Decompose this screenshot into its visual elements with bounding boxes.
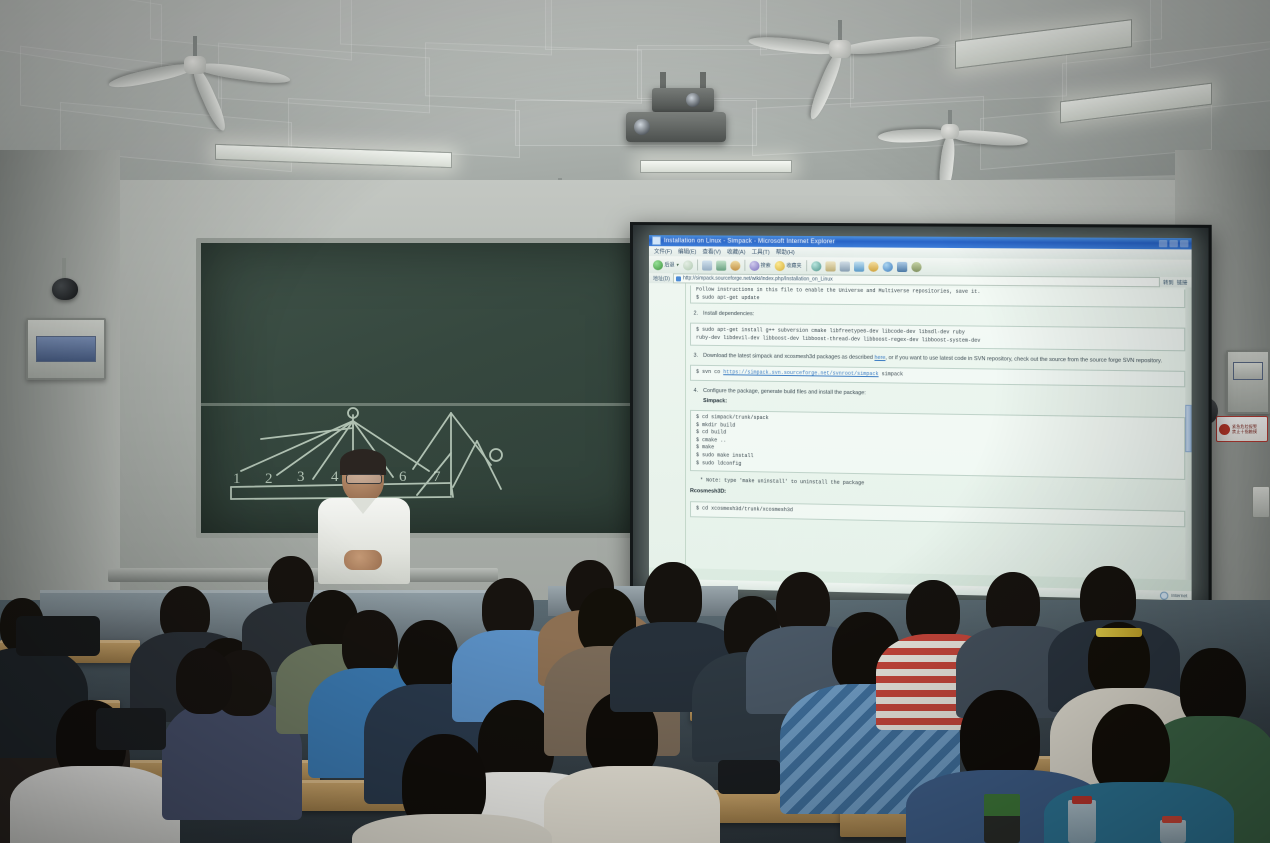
chalkboard-tree-drawing [201,243,651,533]
menu-edit[interactable]: 编辑(E) [678,247,696,255]
step-item: 4. Configure the package, generate build… [690,387,1185,413]
globe-icon [882,261,892,271]
svn-suffix: simpack [879,371,904,377]
chalk-number: 1 [233,471,241,488]
history-button[interactable] [811,261,821,271]
history-icon [811,261,821,271]
printer-icon [839,261,849,271]
toolbar-separator [697,259,698,270]
student-body [352,814,552,843]
wiki-article-content: Follow instructions in this file to enab… [686,283,1192,579]
stop-button[interactable] [702,260,712,270]
toolbar-separator [744,260,745,271]
tools-icon [911,261,921,271]
here-link[interactable]: here [874,355,885,361]
code-line: $ svn co https://simpack.svn.sourceforge… [696,369,1179,383]
back-button[interactable]: 后退 ▾ [653,260,679,270]
chalk-number: 3 [297,469,305,486]
menu-help[interactable]: 帮助(H) [776,248,795,256]
search-button[interactable]: 搜索 [749,260,771,270]
back-label: 后退 [664,261,674,268]
stop-icon [702,260,712,270]
refresh-icon [716,260,726,270]
code-block-trailing: $ cd xcosmesh3d/trunk/xcosmesh3d [690,501,1185,527]
folder-icon [868,261,878,271]
projector-lens [686,93,700,107]
home-icon [730,260,740,270]
chevron-down-icon[interactable]: ▾ [676,262,679,268]
go-button[interactable]: 转到 [1163,279,1174,286]
projector-main [626,112,726,142]
discuss-button[interactable] [882,261,892,271]
warning-dot-icon [1219,424,1230,435]
svn-url-link[interactable]: https://simpack.svn.sourceforge.net/svnr… [723,369,878,377]
ceiling-fan [740,20,940,80]
mail-icon [825,261,835,271]
search-icon [749,260,759,270]
wall-control-panel[interactable] [26,318,106,380]
wiki-sidebar [649,283,686,568]
bag [718,760,780,794]
vertical-scrollbar[interactable] [1185,287,1191,579]
back-arrow-icon [653,260,663,270]
messenger-button[interactable] [868,261,878,271]
projected-image: Installation on Linux - Simpack - Micros… [649,235,1192,600]
security-camera [52,278,78,300]
lecturer [316,452,412,582]
menu-tools[interactable]: 工具(T) [752,248,770,256]
code-block-svn: $ svn co https://simpack.svn.sourceforge… [690,365,1185,387]
address-label: 地址(D) [653,275,670,282]
extra-button[interactable] [911,261,921,271]
url-text: http://simpack.sourceforge.net/wiki/inde… [683,275,833,282]
ceiling-fan [870,110,1030,162]
bottle-cap [1072,796,1092,804]
forward-button[interactable] [683,260,693,270]
ceiling-light [640,160,792,173]
window-controls[interactable] [1159,240,1189,247]
translate-button[interactable] [897,261,907,271]
translate-icon [897,261,907,271]
internet-explorer-window[interactable]: Installation on Linux - Simpack - Micros… [649,235,1192,600]
equipment-display [1233,362,1263,380]
step-item: 3. Download the latest simpack and xcosm… [690,353,1185,367]
ie-app-icon [652,236,661,245]
lecturer-hands [344,550,382,570]
chalk-number: 2 [265,471,273,488]
projector-body [652,88,714,112]
step-number: 4. [690,387,698,406]
favorites-button[interactable]: 收藏夹 [775,260,802,270]
code-line: $ cd xcosmesh3d/trunk/xcosmesh3d [696,506,1179,523]
star-icon [775,260,785,270]
menu-view[interactable]: 查看(V) [702,247,720,255]
minimize-button[interactable] [1159,240,1167,247]
student-body [544,766,720,843]
step-item: 2. Install dependencies: [690,311,1185,324]
forward-arrow-icon [683,260,693,270]
menu-favorites[interactable]: 收藏(A) [727,248,745,256]
refresh-button[interactable] [716,260,726,270]
links-label[interactable]: 链接 [1177,279,1188,286]
close-button[interactable] [1180,240,1188,247]
sunglasses-icon [1096,628,1142,637]
code-block-dependencies: $ sudo apt-get install g++ subversion cm… [690,323,1185,352]
step-text-after: , or if you want to use latest code in S… [885,355,1162,364]
step-text: Install dependencies: [703,311,1185,324]
student-head [176,648,232,714]
lecturer-hair [340,449,386,475]
chalk-number: 7 [433,469,441,486]
panel-display [36,336,96,362]
home-button[interactable] [730,260,740,270]
sign-line-2: 禁止十指触摸 [1232,429,1257,434]
backpack [16,616,100,656]
menu-file[interactable]: 文件(F) [654,247,672,255]
water-bottle [1160,820,1186,843]
scrollbar-thumb[interactable] [1185,404,1191,451]
student-head [398,620,458,692]
classroom-photo-scene: 紧急危险报警 禁止十指触摸 [0,0,1270,843]
code-block-top: Follow instructions in this file to enab… [690,285,1185,308]
mail-button[interactable] [825,261,835,271]
student-body-white-polka [10,766,180,843]
water-bottle [984,794,1020,843]
page-icon [676,276,681,281]
toolbar-separator [806,260,807,271]
internet-zone-icon [1160,591,1168,599]
svn-prefix: $ svn co [696,369,723,375]
projector-lens [634,119,650,135]
camera-arm [62,258,66,280]
step-number: 2. [690,311,698,319]
maximize-button[interactable] [1169,240,1177,247]
edit-icon [854,261,864,271]
page-viewport: Follow instructions in this file to enab… [649,283,1192,580]
wall-switch[interactable] [1252,486,1270,518]
chalkboard: 1 2 3 4 5 6 7 [196,238,656,538]
search-label: 搜索 [761,262,771,269]
favorites-label: 收藏夹 [786,262,801,269]
status-zone-label: Internet [1171,593,1187,599]
print-button[interactable] [839,261,849,271]
lecturer-glasses [346,474,382,484]
edit-button[interactable] [854,261,864,271]
step-text-before: Download the latest simpack and xcosmesh… [703,353,874,361]
emergency-sign: 紧急危险报警 禁止十指触摸 [1216,416,1268,442]
bottle-cap [1162,816,1182,823]
step-number: 3. [690,353,698,361]
ceiling-fan [100,36,290,96]
bag [96,708,166,750]
water-bottle [1068,800,1096,843]
wall-equipment-box[interactable] [1226,350,1270,414]
code-block-build: $ cd simpack/trunk/spack $ mkdir build $… [690,410,1185,480]
ie-window-title: Installation on Linux - Simpack - Micros… [664,238,835,245]
step-text: Download the latest simpack and xcosmesh… [703,353,1185,367]
